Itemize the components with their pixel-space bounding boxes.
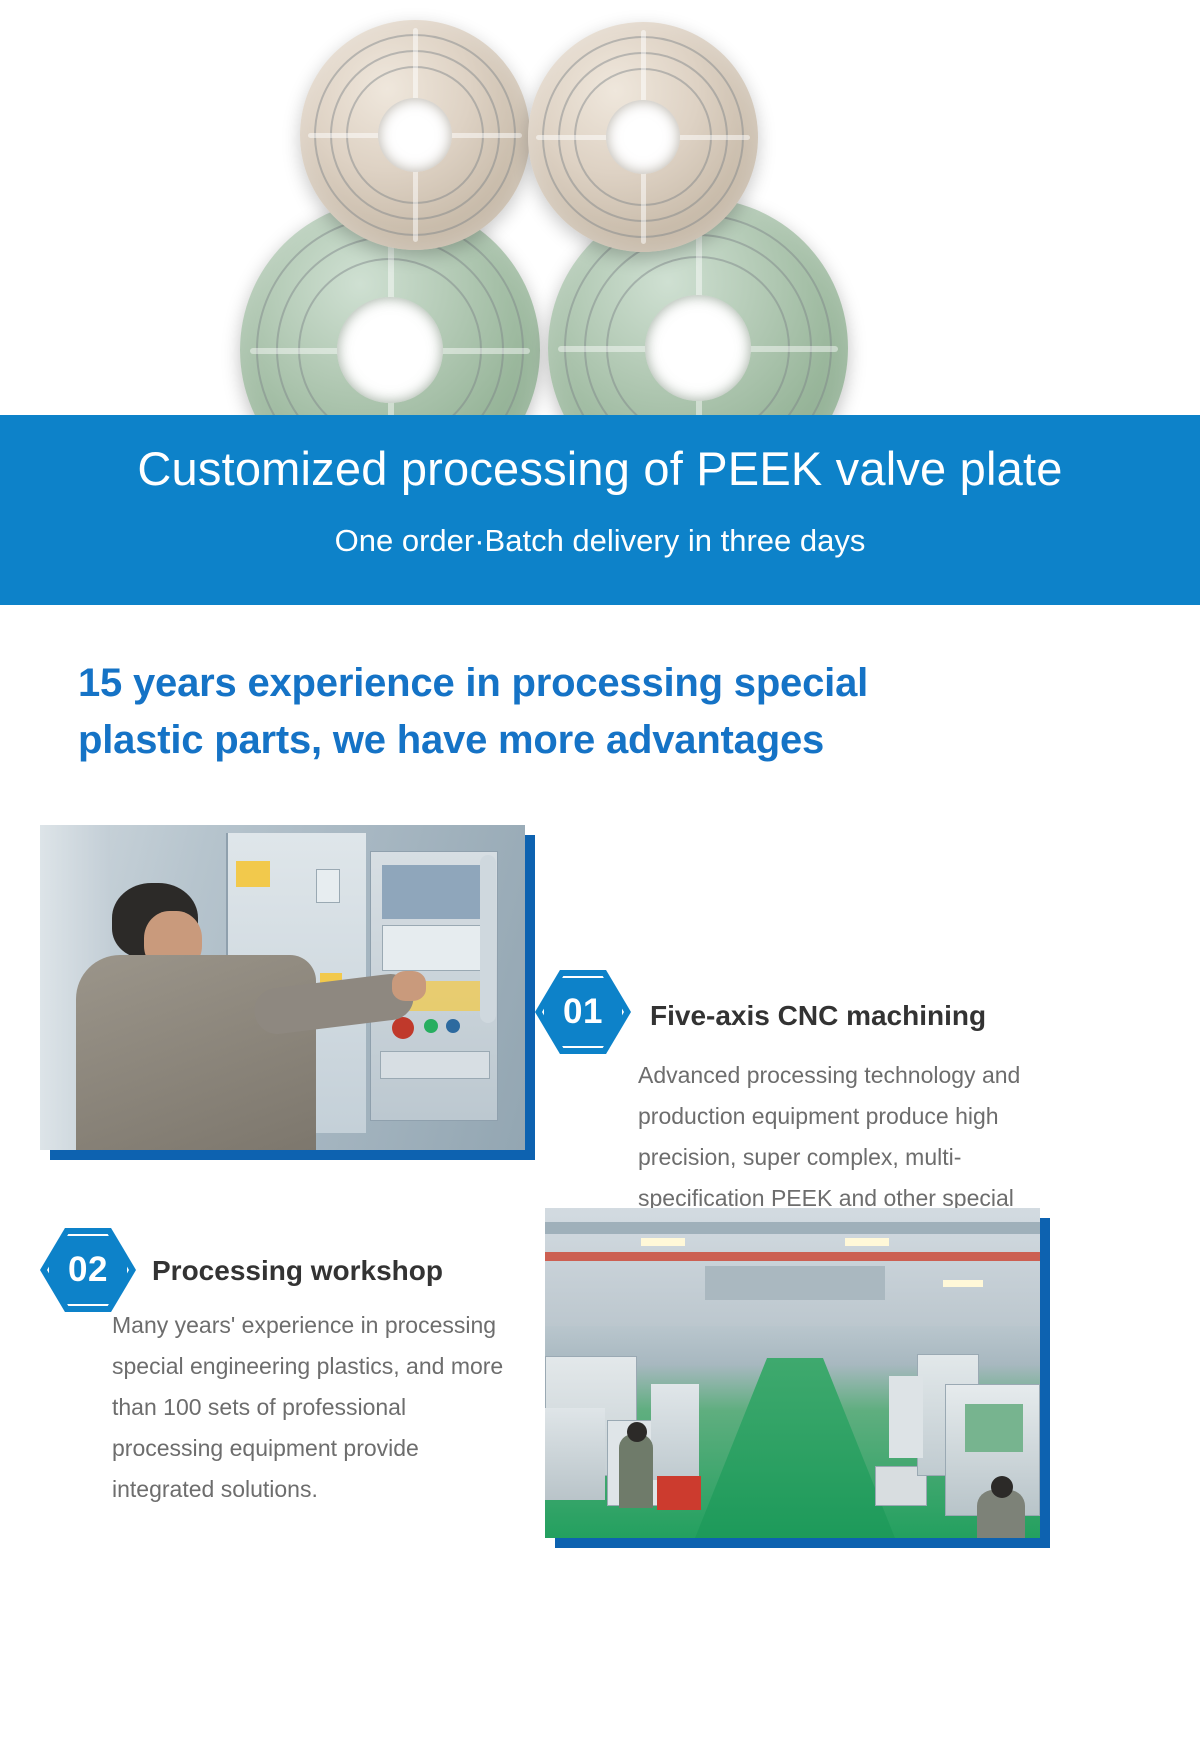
metal-valve-plate-top-left — [300, 20, 530, 250]
photo-image-workshop — [545, 1208, 1040, 1538]
feature-photo-cnc-machining — [40, 825, 525, 1150]
banner-title: Customized processing of PEEK valve plat… — [0, 441, 1200, 496]
plate-center-hole — [606, 100, 680, 174]
metal-valve-plate-top-right — [528, 22, 758, 252]
hero-product-photo — [0, 0, 1200, 415]
feature-badge-number: 01 — [535, 970, 631, 1054]
product-detail-page: Customized processing of PEEK valve plat… — [0, 0, 1200, 1758]
banner-subtitle: One order·Batch delivery in three days — [0, 523, 1200, 559]
feature-badge-01: 01 — [535, 970, 631, 1054]
section-heading-line2: plastic parts, we have more advantages — [78, 712, 1078, 769]
plate-center-hole — [337, 297, 443, 403]
plate-center-hole — [378, 98, 452, 172]
section-heading: 15 years experience in processing specia… — [78, 655, 1078, 769]
feature-badge-02: 02 — [40, 1228, 136, 1312]
title-banner: Customized processing of PEEK valve plat… — [0, 415, 1200, 605]
feature-photo-processing-workshop — [545, 1208, 1040, 1538]
feature-title-02: Processing workshop — [152, 1255, 443, 1287]
plate-center-hole — [645, 295, 751, 401]
photo-image-cnc-operator — [40, 825, 525, 1150]
section-heading-line1: 15 years experience in processing specia… — [78, 655, 1078, 712]
feature-badge-number: 02 — [40, 1228, 136, 1312]
feature-body-02: Many years' experience in processing spe… — [112, 1305, 522, 1510]
feature-title-01: Five-axis CNC machining — [650, 1000, 986, 1032]
